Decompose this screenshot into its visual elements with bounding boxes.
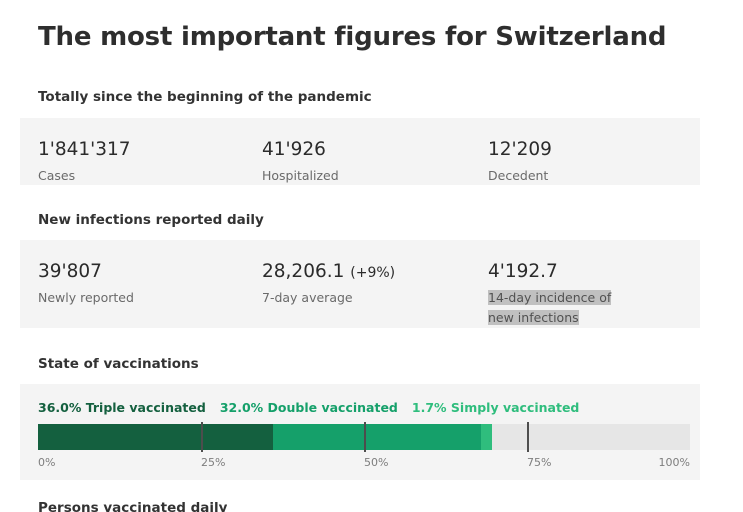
axis-label-0: 0%: [38, 456, 55, 469]
stat-cases: 1'841'317 Cases: [38, 138, 248, 186]
section-heading-total: Totally since the beginning of the pande…: [38, 89, 372, 105]
dashboard-page: The most important figures for Switzerla…: [0, 0, 743, 512]
total-stats-panel: 1'841'317 Cases 41'926 Hospitalized 12'2…: [20, 118, 700, 185]
vaccination-panel: 36.0% Triple vaccinated32.0% Double vacc…: [20, 384, 700, 480]
progress-segment-triple-vaccinated: [38, 424, 273, 450]
stat-value-hospitalized: 41'926: [262, 138, 472, 161]
stat-label-cases: Cases: [38, 166, 248, 185]
stat-value-fourteen-day-incidence: 4'192.7: [488, 260, 698, 283]
stat-value-seven-day-average: 28,206.1 (+9%): [262, 260, 472, 283]
section-heading-next: Persons vaccinated daily: [38, 500, 227, 512]
stat-newly-reported: 39'807 Newly reported: [38, 260, 248, 308]
daily-stats-panel: 39'807 Newly reported 28,206.1 (+9%) 7-d…: [20, 240, 700, 328]
page-title: The most important figures for Switzerla…: [38, 22, 666, 52]
legend-item-simply-vaccinated: 1.7% Simply vaccinated: [412, 400, 580, 415]
progress-segment-simply-vaccinated: [481, 424, 492, 450]
stat-number-seven-day-average: 28,206.1: [262, 261, 344, 282]
axis-label-25: 25%: [201, 456, 225, 469]
progress-segment-double-vaccinated: [273, 424, 482, 450]
selected-text: 14-day incidence of new infections: [488, 290, 611, 324]
axis-label-75: 75%: [527, 456, 551, 469]
stat-hospitalized: 41'926 Hospitalized: [262, 138, 472, 186]
stat-label-fourteen-day-incidence: 14-day incidence of new infections: [488, 288, 640, 327]
axis-label-50: 50%: [364, 456, 388, 469]
vaccination-progress-bar: [38, 424, 690, 450]
section-heading-daily: New infections reported daily: [38, 212, 264, 228]
stat-value-decedent: 12'209: [488, 138, 698, 161]
stat-fourteen-day-incidence: 4'192.7 14-day incidence of new infectio…: [488, 260, 698, 327]
stat-label-hospitalized: Hospitalized: [262, 166, 472, 185]
vaccination-legend: 36.0% Triple vaccinated32.0% Double vacc…: [38, 400, 593, 415]
legend-item-double-vaccinated: 32.0% Double vaccinated: [220, 400, 398, 415]
stat-seven-day-average: 28,206.1 (+9%) 7-day average: [262, 260, 472, 308]
legend-item-triple-vaccinated: 36.0% Triple vaccinated: [38, 400, 206, 415]
axis-tick-mark-25: [201, 422, 203, 452]
axis-tick-mark-75: [527, 422, 529, 452]
section-heading-vaccination: State of vaccinations: [38, 356, 199, 372]
stat-delta-seven-day-average: (+9%): [350, 265, 395, 281]
axis-label-100: 100%: [659, 456, 690, 469]
stat-label-newly-reported: Newly reported: [38, 288, 248, 307]
axis-tick-mark-50: [364, 422, 366, 452]
vaccination-axis: 0% 25% 50% 75% 100%: [38, 456, 690, 470]
stat-decedent: 12'209 Decedent: [488, 138, 698, 186]
stat-label-decedent: Decedent: [488, 166, 698, 185]
stat-label-seven-day-average: 7-day average: [262, 288, 472, 307]
stat-value-cases: 1'841'317: [38, 138, 248, 161]
stat-value-newly-reported: 39'807: [38, 260, 248, 283]
